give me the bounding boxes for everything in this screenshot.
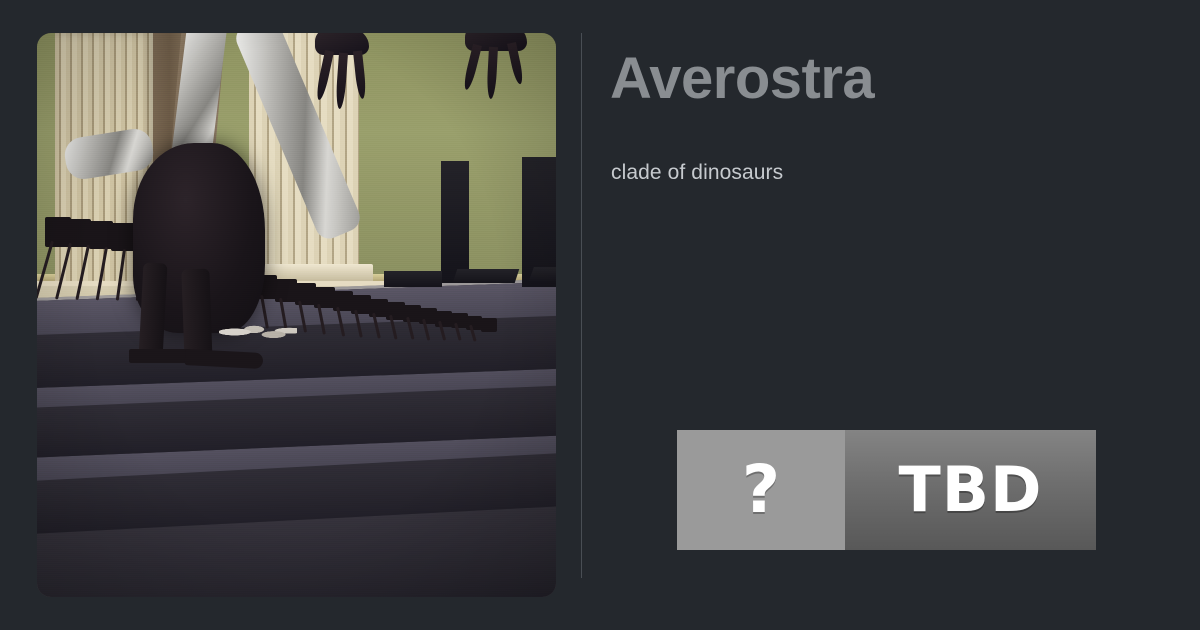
status-badge-value-section: TBD	[845, 430, 1096, 550]
question-mark-icon: ?	[742, 457, 780, 523]
exhibit-sign-base	[528, 267, 556, 283]
og-preview-card: Averostra clade of dinosaurs ? TBD	[0, 0, 1200, 630]
status-badge-label-section: ?	[677, 430, 845, 550]
vertical-divider	[581, 33, 582, 578]
page-title: Averostra	[610, 49, 874, 110]
dinosaur-skeleton-photo	[37, 33, 556, 597]
page-subtitle: clade of dinosaurs	[611, 161, 783, 185]
skeleton-loose-bones	[219, 319, 297, 345]
content-column: Averostra clade of dinosaurs ? TBD	[610, 33, 1160, 597]
status-badge-value: TBD	[898, 459, 1042, 521]
article-image-card[interactable]	[37, 33, 556, 597]
skeleton-lower-leg	[139, 262, 168, 359]
status-badge[interactable]: ? TBD	[677, 430, 1096, 550]
skeleton-spine-and-tail	[45, 183, 515, 333]
skeleton-hand-claws	[309, 33, 389, 109]
skeleton-hand-claws	[455, 33, 545, 105]
